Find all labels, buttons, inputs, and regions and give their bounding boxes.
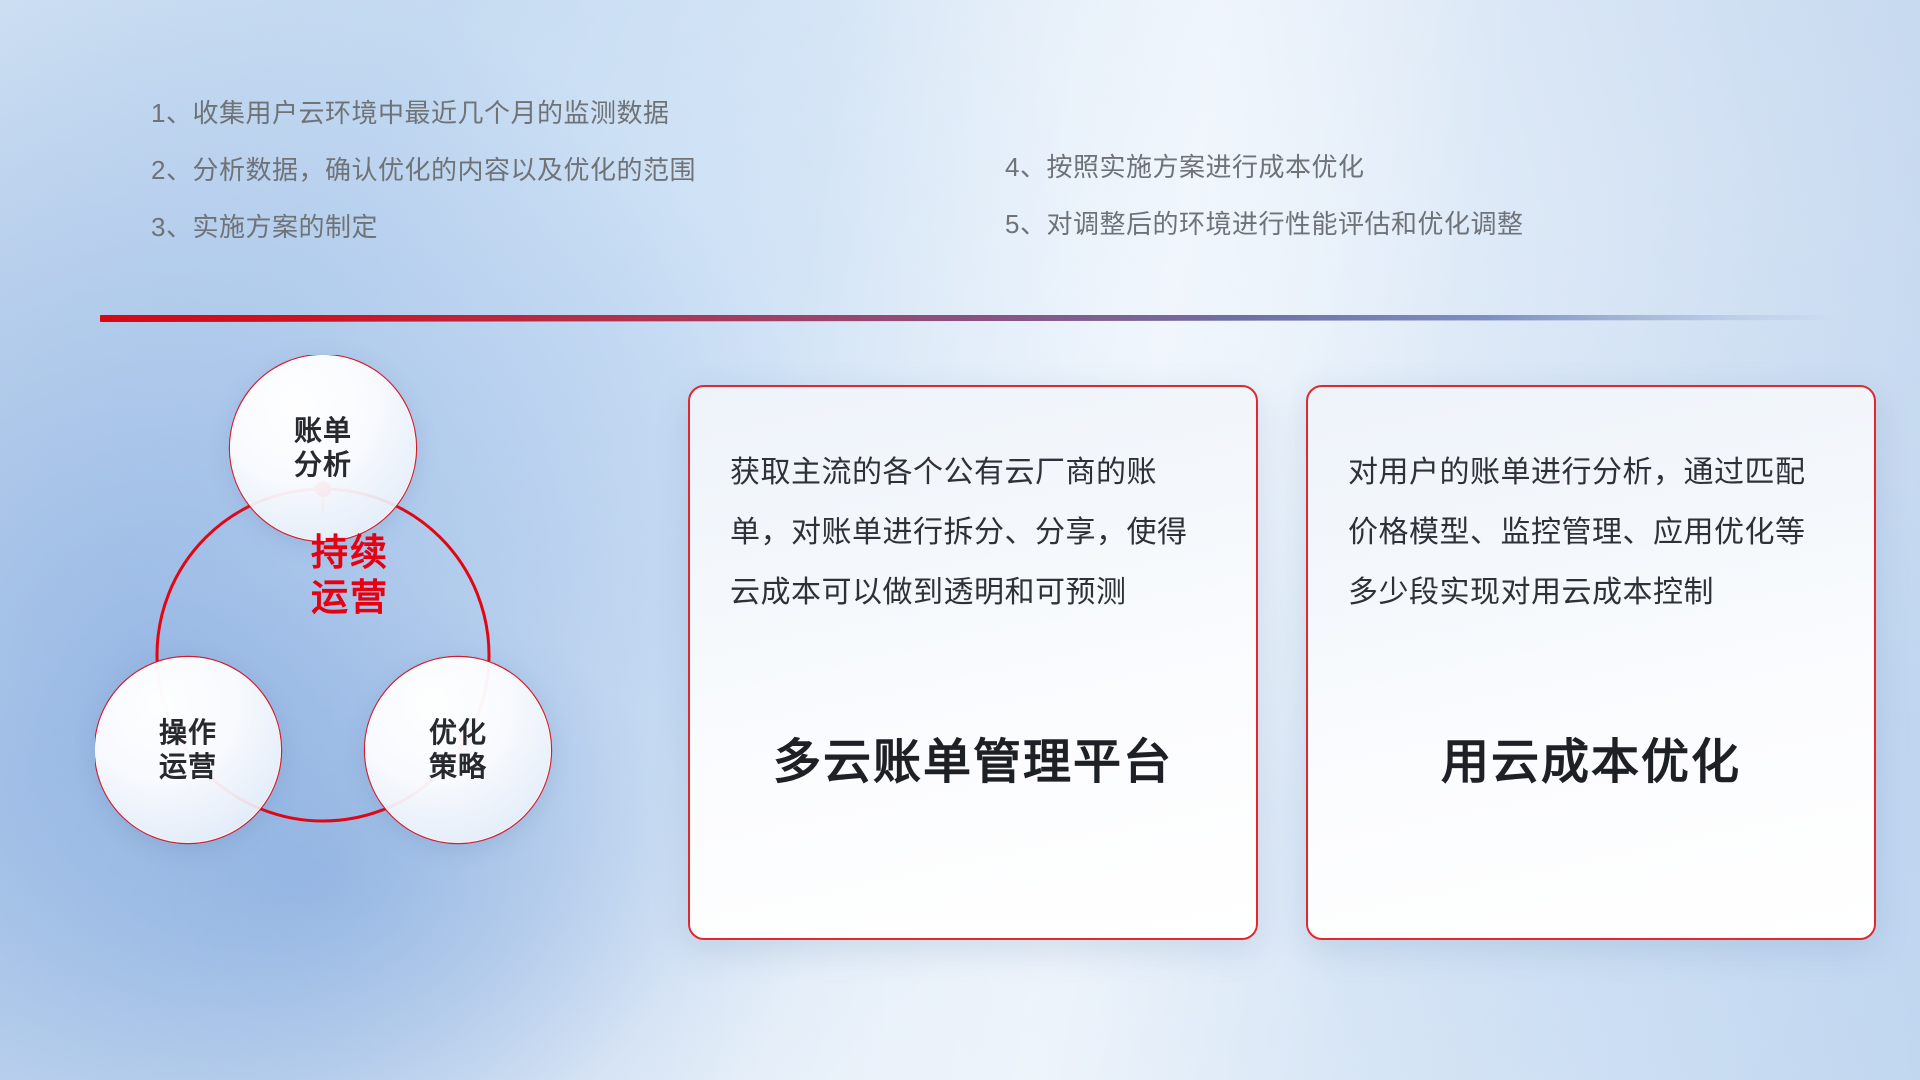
steps-list-right: 4、按照实施方案进行成本优化 5、对调整后的环境进行性能评估和优化调整 [1005,154,1523,268]
bubble-label-line1: 优化 [429,716,487,750]
card-body-text: 获取主流的各个公有云厂商的账单，对账单进行拆分、分享，使得云成本可以做到透明和可… [730,443,1216,623]
card-multicloud-billing[interactable]: 获取主流的各个公有云厂商的账单，对账单进行拆分、分享，使得云成本可以做到透明和可… [688,385,1258,940]
bubble-label-line2: 策略 [429,750,487,784]
step-item: 3、实施方案的制定 [151,214,696,240]
cycle-center-label-line1: 持续 [250,530,450,575]
step-item: 1、收集用户云环境中最近几个月的监测数据 [151,100,696,126]
card-divider [1348,665,1834,672]
bubble-operations[interactable]: 操作 运营 [95,657,281,843]
bubble-label-line1: 账单 [294,414,352,448]
bubble-label-line2: 运营 [159,750,217,784]
bubble-label-line2: 分析 [294,448,352,482]
step-item: 5、对调整后的环境进行性能评估和优化调整 [1005,211,1523,237]
headline-divider-bar [100,315,1835,322]
cycle-center-label-line2: 运营 [250,575,450,620]
slide-canvas: 1、收集用户云环境中最近几个月的监测数据 2、分析数据，确认优化的内容以及优化的… [0,0,1920,1080]
cycle-diagram: 账单 分析 操作 运营 优化 策略 持续 运营 [95,355,620,940]
card-divider [730,665,1216,672]
bubble-billing-analysis[interactable]: 账单 分析 [230,355,416,541]
step-item: 2、分析数据，确认优化的内容以及优化的范围 [151,157,696,183]
card-cloud-cost-optimization[interactable]: 对用户的账单进行分析，通过匹配价格模型、监控管理、应用优化等多少段实现对用云成本… [1306,385,1876,940]
card-title: 多云账单管理平台 [730,722,1216,792]
card-body-text: 对用户的账单进行分析，通过匹配价格模型、监控管理、应用优化等多少段实现对用云成本… [1348,443,1834,623]
cycle-center-label: 持续 运营 [250,530,450,620]
steps-list-left: 1、收集用户云环境中最近几个月的监测数据 2、分析数据，确认优化的内容以及优化的… [151,100,696,271]
card-title: 用云成本优化 [1348,722,1834,792]
headline-divider [100,315,1835,322]
step-item: 4、按照实施方案进行成本优化 [1005,154,1523,180]
bubble-optimization-strategy[interactable]: 优化 策略 [365,657,551,843]
bubble-label-line1: 操作 [159,716,217,750]
